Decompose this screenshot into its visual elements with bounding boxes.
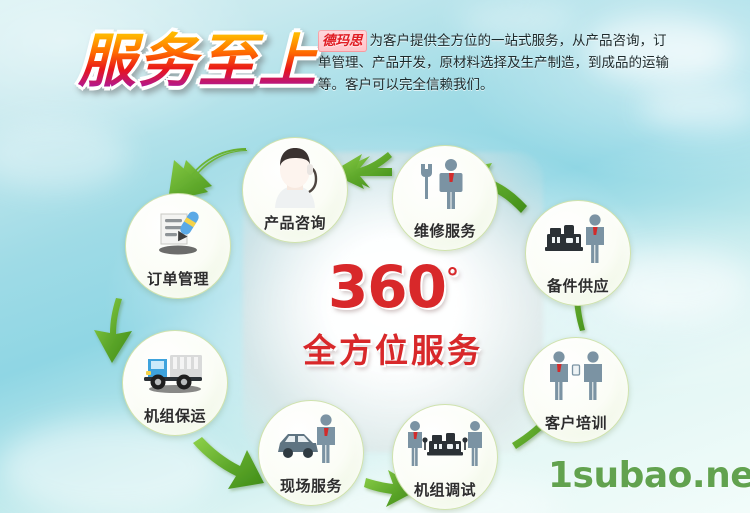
intro-paragraph: 德玛思为客户提供全方位的一站式服务，从产品咨询，订单管理、产品开发，原材料选择及… <box>318 30 674 96</box>
wrench-person-icon <box>393 158 497 210</box>
headset-agent-icon <box>243 146 347 208</box>
node-label: 备件供应 <box>547 275 609 296</box>
machine-person-icon <box>526 213 630 265</box>
node-label: 维修服务 <box>414 220 476 241</box>
page-title: 服务至上 <box>78 14 318 98</box>
node-onsite-service[interactable]: 现场服务 <box>258 400 364 506</box>
document-pen-icon <box>126 206 230 258</box>
intro-text: 为客户提供全方位的一站式服务，从产品咨询，订单管理、产品开发，原材料选择及生产制… <box>318 33 669 92</box>
centre-subtitle: 全方位服务 <box>272 324 514 372</box>
node-product-consultation[interactable]: 产品咨询 <box>242 137 348 243</box>
node-order-management[interactable]: 订单管理 <box>125 193 231 299</box>
node-spare-parts-supply[interactable]: 备件供应 <box>525 200 631 306</box>
centre-text-group: 360° 全方位服务 <box>272 258 514 372</box>
node-label: 机组调试 <box>414 479 476 500</box>
node-unit-transport[interactable]: 机组保运 <box>122 330 228 436</box>
centre-number: 360° <box>272 258 514 316</box>
car-person-icon <box>259 413 363 465</box>
node-label: 机组保运 <box>144 405 206 426</box>
brand-badge: 德玛思 <box>318 30 367 52</box>
node-customer-training[interactable]: 客户培训 <box>523 337 629 443</box>
centre-number-value: 360 <box>328 253 446 321</box>
degree-symbol: ° <box>446 264 458 294</box>
node-unit-commissioning[interactable]: 机组调试 <box>392 404 498 510</box>
node-repair-service[interactable]: 维修服务 <box>392 145 498 251</box>
node-label: 现场服务 <box>280 475 342 496</box>
two-people-icon <box>524 350 628 402</box>
service-infographic: 服务至上 德玛思为客户提供全方位的一站式服务，从产品咨询，订单管理、产品开发，原… <box>0 0 750 513</box>
site-watermark: 1subao.net <box>548 455 750 496</box>
node-label: 产品咨询 <box>264 212 326 233</box>
node-label: 订单管理 <box>147 268 209 289</box>
cloud-decor <box>0 120 130 190</box>
node-label: 客户培训 <box>545 412 607 433</box>
two-people-machine-icon <box>393 417 497 469</box>
truck-icon <box>123 343 227 395</box>
